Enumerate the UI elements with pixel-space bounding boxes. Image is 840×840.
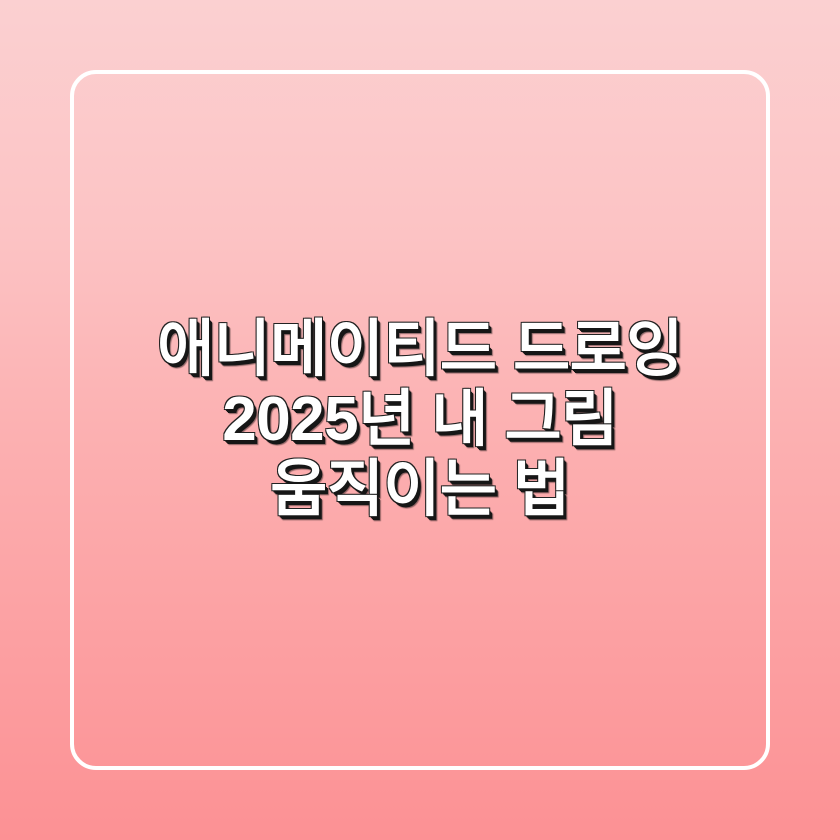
title-line-3: 움직이는 법 — [0, 455, 840, 525]
title-line-1: 애니메이티드 드로잉 — [0, 315, 840, 385]
thumbnail-canvas: 애니메이티드 드로잉 2025년 내 그림 움직이는 법 — [0, 0, 840, 840]
title-block: 애니메이티드 드로잉 2025년 내 그림 움직이는 법 — [0, 0, 840, 840]
title-line-2: 2025년 내 그림 — [0, 385, 840, 455]
